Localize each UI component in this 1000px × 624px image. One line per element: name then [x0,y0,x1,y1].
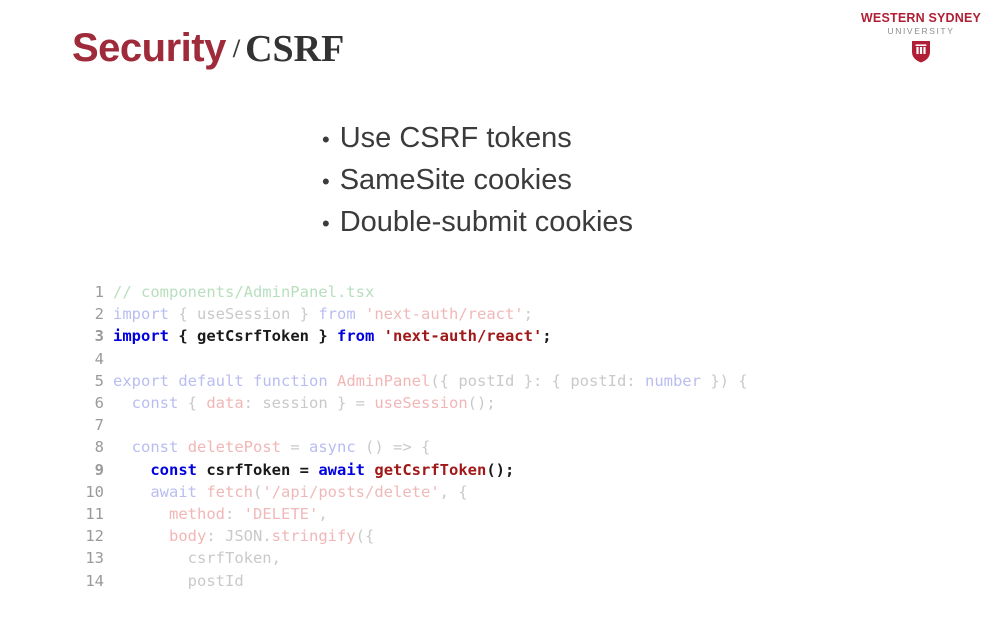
code-token: // components/AdminPanel.tsx [113,283,374,301]
code-token: ; [542,327,551,345]
code-token: default [178,372,243,390]
code-line-number: 6 [78,392,104,414]
code-token [365,461,374,479]
code-token: ({ postId }: { postId: [430,372,645,390]
code-token [197,483,206,501]
code-line-content: body: JSON.stringify({ [113,525,374,547]
code-token [113,483,150,501]
code-token: }) { [701,372,748,390]
logo-primary-text: WESTERN SYDNEY [856,12,986,25]
code-token: function [253,372,328,390]
code-line-number: 11 [78,503,104,525]
code-token: number [645,372,701,390]
code-line-number: 14 [78,570,104,592]
code-token: , { [440,483,468,501]
code-line: 12 body: JSON.stringify({ [78,525,988,547]
code-token: = [290,461,318,479]
code-token: useSession [374,394,467,412]
bullet-list: •Use CSRF tokens•SameSite cookies•Double… [322,118,633,244]
code-token [113,461,150,479]
code-line: 7 [78,414,988,436]
shield-crest-icon [911,40,931,63]
code-token [244,372,253,390]
code-token: { [169,327,197,345]
code-line-content: import { useSession } from 'next-auth/re… [113,303,533,325]
code-line-number: 2 [78,303,104,325]
code-line-content: import { getCsrfToken } from 'next-auth/… [113,325,552,347]
code-line-content: csrfToken, [113,547,281,569]
code-line-number: 7 [78,414,104,436]
code-line-number: 10 [78,481,104,503]
page-title: Security/CSRF [72,28,344,68]
code-token: import [113,305,169,323]
code-token: method [169,505,225,523]
code-line: 14 postId [78,570,988,592]
code-token [328,372,337,390]
bullet-item-label: SameSite cookies [340,160,572,201]
code-token: data [206,394,243,412]
code-line: 13 csrfToken, [78,547,988,569]
code-line: 10 await fetch('/api/posts/delete', { [78,481,988,503]
code-token: ; [524,305,533,323]
code-token: } [290,305,318,323]
code-line-number: 1 [78,281,104,303]
code-token: useSession [197,305,290,323]
slide: WESTERN SYDNEY UNIVERSITY Security/CSRF … [0,0,1000,624]
code-token: () => { [356,438,431,456]
code-token: await [318,461,365,479]
code-line: 6 const { data: session } = useSession()… [78,392,988,414]
code-token [169,372,178,390]
code-block: 1// components/AdminPanel.tsx2import { u… [78,281,988,601]
university-logo: WESTERN SYDNEY UNIVERSITY [856,12,986,67]
logo-secondary-text: UNIVERSITY [856,27,986,36]
code-line: 8 const deletePost = async () => { [78,436,988,458]
code-line: 3import { getCsrfToken } from 'next-auth… [78,325,988,347]
code-token: ({ [356,527,375,545]
code-token: from [318,305,355,323]
code-token: : [225,505,244,523]
code-token [356,305,365,323]
bullet-item: •SameSite cookies [322,160,633,202]
code-token: fetch [206,483,253,501]
code-line-content: // components/AdminPanel.tsx [113,281,374,303]
code-token: const [150,461,197,479]
code-token: ( [253,483,262,501]
code-line-content: export default function AdminPanel({ pos… [113,370,748,392]
code-token: { [169,305,197,323]
code-token: from [337,327,374,345]
code-line-number: 5 [78,370,104,392]
bullet-marker-icon: • [322,119,330,160]
page-title-separator: / [226,34,245,63]
code-token: body [169,527,206,545]
code-token: 'next-auth/react' [384,327,543,345]
code-token: deletePost [188,438,281,456]
code-token: postId [113,572,244,590]
code-token: : JSON. [206,527,271,545]
bullet-marker-icon: • [322,203,330,244]
code-line-content: const { data: session } = useSession(); [113,392,496,414]
code-token: await [150,483,197,501]
code-line: 2import { useSession } from 'next-auth/r… [78,303,988,325]
bullet-item: •Use CSRF tokens [322,118,633,160]
code-token: : session } = [244,394,375,412]
code-token: '/api/posts/delete' [262,483,439,501]
code-token: export [113,372,169,390]
code-token: { [178,394,206,412]
code-line: 9 const csrfToken = await getCsrfToken()… [78,459,988,481]
code-token: const [132,394,179,412]
code-token: } [309,327,337,345]
page-title-main: Security [72,26,226,70]
code-token: (); [486,461,514,479]
bullet-item: •Double-submit cookies [322,202,633,244]
code-token [113,438,132,456]
bullet-marker-icon: • [322,161,330,202]
code-line-number: 3 [78,325,104,347]
code-token: getCsrfToken [197,327,309,345]
bullet-item-label: Double-submit cookies [340,202,633,243]
code-token: csrfToken, [113,549,281,567]
code-token: 'DELETE' [244,505,319,523]
code-token [178,438,187,456]
code-token: = [281,438,309,456]
code-token: , [318,505,327,523]
code-line: 1// components/AdminPanel.tsx [78,281,988,303]
code-token [197,461,206,479]
code-token [374,327,383,345]
bullet-item-label: Use CSRF tokens [340,118,572,159]
code-line-content: method: 'DELETE', [113,503,328,525]
code-line-content: postId [113,570,244,592]
code-token: stringify [272,527,356,545]
code-token: async [309,438,356,456]
code-line-content: const csrfToken = await getCsrfToken(); [113,459,514,481]
code-token [113,527,169,545]
code-token: 'next-auth/react' [365,305,524,323]
page-title-sub: CSRF [245,28,344,70]
code-line: 11 method: 'DELETE', [78,503,988,525]
code-token: import [113,327,169,345]
code-line-number: 4 [78,348,104,370]
code-token [113,394,132,412]
code-line-content: await fetch('/api/posts/delete', { [113,481,468,503]
code-line: 5export default function AdminPanel({ po… [78,370,988,392]
code-token: AdminPanel [337,372,430,390]
code-token: getCsrfToken [374,461,486,479]
code-token: const [132,438,179,456]
code-line-number: 12 [78,525,104,547]
code-token: (); [468,394,496,412]
code-line-number: 8 [78,436,104,458]
code-line-number: 9 [78,459,104,481]
code-token [113,505,169,523]
code-line-number: 13 [78,547,104,569]
code-line: 4 [78,348,988,370]
code-line-content: const deletePost = async () => { [113,436,430,458]
code-token: csrfToken [206,461,290,479]
